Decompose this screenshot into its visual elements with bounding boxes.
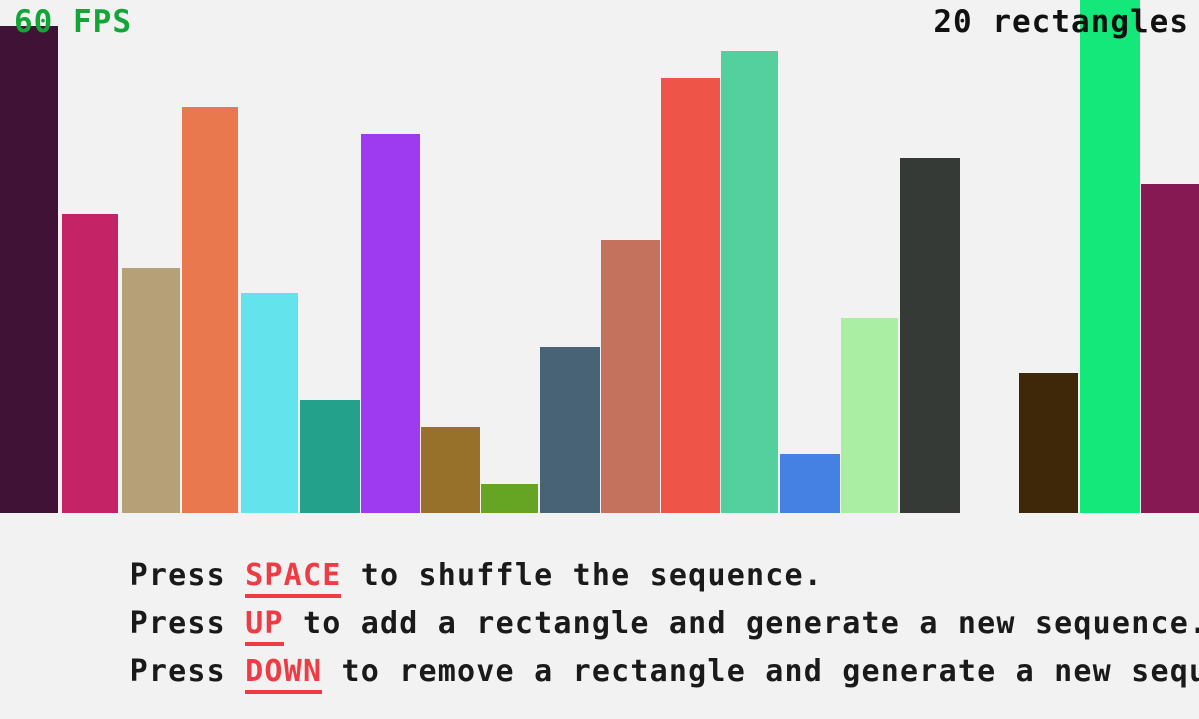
rectangle-canvas[interactable] bbox=[0, 0, 1199, 513]
bar-rectangle bbox=[1080, 0, 1140, 513]
bar-rectangle bbox=[1019, 373, 1078, 513]
bar-rectangle bbox=[601, 240, 660, 513]
bar-rectangle bbox=[661, 78, 720, 513]
key-down: DOWN bbox=[245, 654, 322, 694]
rectangle-count-label: 20 rectangles bbox=[933, 7, 1189, 38]
instruction-line-remove: Press DOWN to remove a rectangle and gen… bbox=[14, 627, 1199, 717]
bar-rectangle bbox=[721, 51, 778, 513]
fps-counter: 60 FPS bbox=[14, 7, 132, 38]
bar-rectangle bbox=[841, 318, 898, 513]
bar-rectangle bbox=[1141, 184, 1199, 513]
instructions-panel: Press SPACE to shuffle the sequence. Pre… bbox=[0, 513, 1199, 675]
bar-rectangle bbox=[361, 134, 420, 513]
bar-rectangle bbox=[122, 268, 180, 513]
bar-rectangle bbox=[300, 400, 360, 513]
app-root: 60 FPS 20 rectangles Press SPACE to shuf… bbox=[0, 0, 1199, 675]
bar-rectangle bbox=[241, 293, 298, 513]
bar-rectangle bbox=[900, 158, 960, 513]
instruction-suffix: to remove a rectangle and generate a new… bbox=[322, 654, 1199, 689]
bar-rectangle bbox=[481, 484, 538, 513]
bar-rectangle bbox=[62, 214, 118, 513]
bar-rectangle bbox=[182, 107, 238, 513]
bar-rectangle bbox=[780, 454, 840, 513]
bar-rectangle bbox=[421, 427, 480, 513]
instruction-prefix: Press bbox=[130, 654, 246, 689]
bar-rectangle bbox=[540, 347, 600, 513]
bar-rectangle bbox=[0, 26, 58, 513]
